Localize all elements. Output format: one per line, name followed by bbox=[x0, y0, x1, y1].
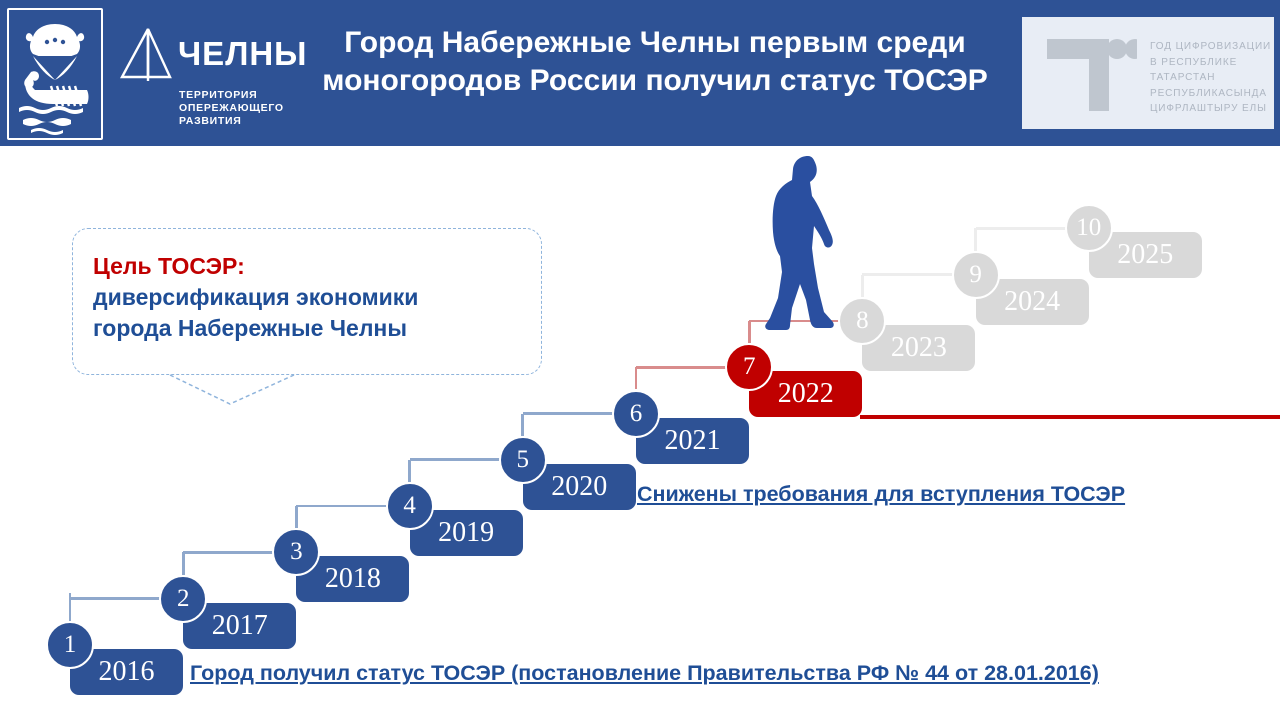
step-number-label: 10 bbox=[1076, 214, 1101, 242]
step-year-label: 2023 bbox=[891, 332, 947, 364]
step-year-label: 2021 bbox=[665, 425, 721, 457]
step-number-label: 1 bbox=[64, 631, 77, 659]
digit-text-line-4: РЕСПУБЛИКАСЫНДА bbox=[1150, 86, 1271, 102]
step-connector-riser bbox=[861, 275, 864, 297]
digitalization-year-badge: ГОД ЦИФРОВИЗАЦИИ В РЕСПУБЛИКЕ ТАТАРСТАН … bbox=[1022, 17, 1274, 129]
step-connector-run bbox=[183, 551, 276, 554]
goal-callout-tail bbox=[168, 374, 298, 408]
digit-text-line-2: В РЕСПУБЛИКЕ bbox=[1150, 55, 1271, 71]
current-year-baseline bbox=[860, 415, 1280, 419]
step-number-label: 9 bbox=[969, 261, 982, 289]
walking-man-silhouette-icon bbox=[752, 152, 852, 337]
step-number-label: 3 bbox=[290, 538, 303, 566]
goal-callout-text: Цель ТОСЭР: диверсификация экономики гор… bbox=[93, 251, 533, 344]
coat-of-arms-icon bbox=[7, 8, 103, 140]
step-number-circle[interactable]: 9 bbox=[952, 251, 1000, 299]
step-number-label: 4 bbox=[403, 492, 416, 520]
step-connector-run bbox=[523, 412, 616, 415]
page-title-line-2: моногородов России получил статус ТОСЭР bbox=[290, 62, 1020, 100]
goal-callout-line-1: диверсификация экономики bbox=[93, 284, 418, 310]
step-year-label: 2020 bbox=[551, 471, 607, 503]
step-number-label: 2 bbox=[177, 585, 190, 613]
step-connector-run bbox=[70, 597, 163, 600]
tatarstan-t-dots-icon bbox=[1047, 35, 1137, 120]
step-connector-run bbox=[636, 366, 729, 369]
digitalization-year-text: ГОД ЦИФРОВИЗАЦИИ В РЕСПУБЛИКЕ ТАТАРСТАН … bbox=[1150, 39, 1271, 117]
sail-triangle-icon bbox=[118, 27, 174, 90]
caption-middle: Снижены требования для вступления ТОСЭР bbox=[637, 482, 1125, 507]
chelny-wordmark: ЧЕЛНЫ bbox=[178, 35, 308, 73]
step-connector-riser bbox=[748, 321, 751, 343]
digit-text-line-3: ТАТАРСТАН bbox=[1150, 70, 1271, 86]
chelny-subtitle: ТЕРРИТОРИЯ ОПЕРЕЖАЮЩЕГО РАЗВИТИЯ bbox=[179, 89, 284, 128]
goal-callout-title: Цель ТОСЭР: bbox=[93, 251, 533, 282]
header-banner: ЧЕЛНЫ ТЕРРИТОРИЯ ОПЕРЕЖАЮЩЕГО РАЗВИТИЯ Г… bbox=[0, 0, 1280, 146]
step-connector-riser bbox=[635, 367, 638, 389]
page-title: Город Набережные Челны первым среди моно… bbox=[290, 24, 1020, 100]
step-number-circle[interactable]: 10 bbox=[1065, 204, 1113, 252]
step-number-label: 8 bbox=[856, 307, 869, 335]
step-year-label: 2018 bbox=[325, 563, 381, 595]
step-connector-riser bbox=[974, 228, 977, 250]
step-year-label: 2017 bbox=[212, 610, 268, 642]
goal-callout-line-2: города Набережные Челны bbox=[93, 315, 407, 341]
step-connector-riser bbox=[408, 460, 411, 482]
step-connector-riser bbox=[69, 593, 72, 621]
step-number-circle[interactable]: 6 bbox=[612, 390, 660, 438]
chelny-subtitle-line-1: ТЕРРИТОРИЯ bbox=[179, 89, 284, 102]
step-connector-run bbox=[410, 458, 503, 461]
step-year-label: 2025 bbox=[1117, 239, 1173, 271]
step-year-label: 2016 bbox=[99, 656, 155, 688]
step-number-label: 5 bbox=[517, 446, 530, 474]
slide-canvas: ЧЕЛНЫ ТЕРРИТОРИЯ ОПЕРЕЖАЮЩЕГО РАЗВИТИЯ Г… bbox=[0, 0, 1280, 720]
step-number-label: 6 bbox=[630, 400, 643, 428]
step-connector-riser bbox=[521, 414, 524, 436]
digit-text-line-1: ГОД ЦИФРОВИЗАЦИИ bbox=[1150, 39, 1271, 55]
step-year-label: 2019 bbox=[438, 517, 494, 549]
step-connector-riser bbox=[182, 552, 185, 574]
step-connector-run bbox=[296, 505, 389, 508]
step-number-circle[interactable]: 4 bbox=[386, 482, 434, 530]
caption-bottom: Город получил статус ТОСЭР (постановлени… bbox=[190, 661, 1099, 686]
page-title-line-1: Город Набережные Челны первым среди bbox=[290, 24, 1020, 62]
goal-callout: Цель ТОСЭР: диверсификация экономики гор… bbox=[72, 228, 542, 375]
step-year-label: 2024 bbox=[1004, 286, 1060, 318]
chelny-subtitle-line-2: ОПЕРЕЖАЮЩЕГО bbox=[179, 102, 284, 115]
step-number-label: 7 bbox=[743, 353, 756, 381]
step-number-circle[interactable]: 2 bbox=[159, 575, 207, 623]
step-number-circle[interactable]: 5 bbox=[499, 436, 547, 484]
step-number-circle[interactable]: 1 bbox=[46, 621, 94, 669]
chelny-subtitle-line-3: РАЗВИТИЯ bbox=[179, 115, 284, 128]
step-connector-run bbox=[862, 273, 955, 276]
digit-text-line-5: ЦИФРЛАШТЫРУ ЕЛЫ bbox=[1150, 101, 1271, 117]
step-connector-run bbox=[976, 227, 1069, 230]
step-year-label: 2022 bbox=[778, 378, 834, 410]
step-connector-riser bbox=[295, 506, 298, 528]
chelny-brand-logo: ЧЕЛНЫ ТЕРРИТОРИЯ ОПЕРЕЖАЮЩЕГО РАЗВИТИЯ bbox=[118, 27, 288, 135]
